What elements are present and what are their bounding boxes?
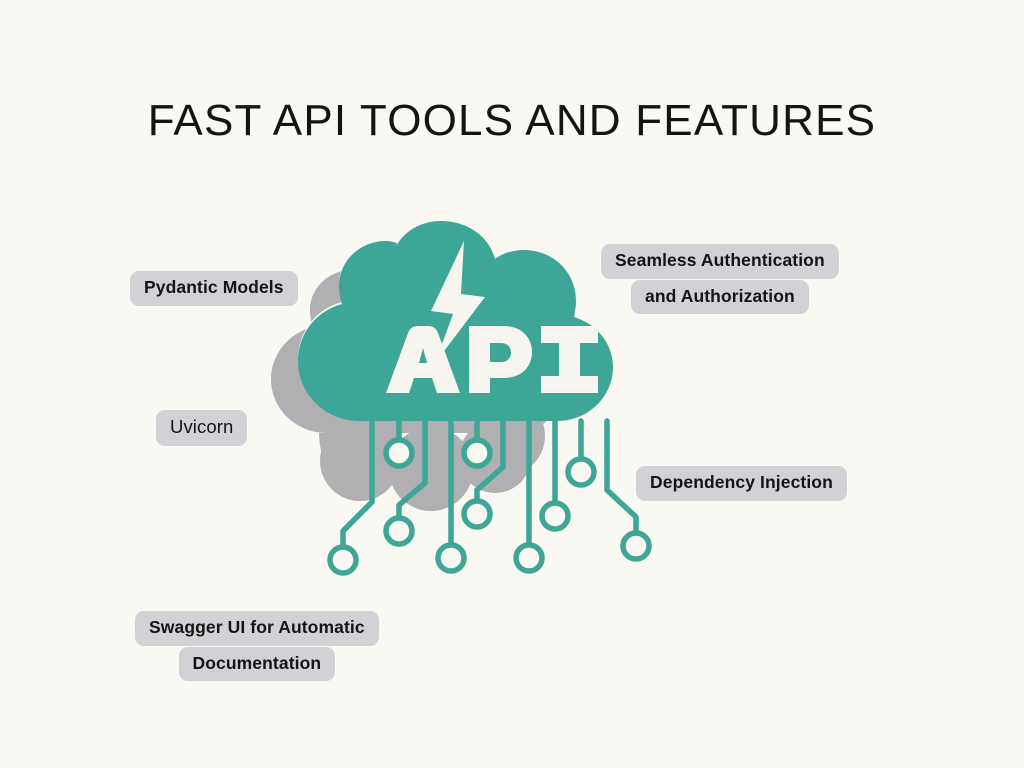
label-uvicorn[interactable]: Uvicorn [156,410,247,446]
infographic-canvas: FAST API TOOLS AND FEATURES [0,0,1024,768]
label-swagger-ui[interactable]: Swagger UI for Automatic Documentation [135,611,379,681]
label-line: Uvicorn [156,410,247,446]
label-seamless-authentication[interactable]: Seamless Authentication and Authorizatio… [601,244,839,314]
label-line: Swagger UI for Automatic [135,611,379,646]
label-dependency-injection[interactable]: Dependency Injection [636,466,847,501]
page-title: FAST API TOOLS AND FEATURES [0,96,1024,146]
label-line: Documentation [179,647,336,682]
label-line: Dependency Injection [636,466,847,501]
label-pydantic-models[interactable]: Pydantic Models [130,271,298,306]
label-line: Pydantic Models [130,271,298,306]
label-line: and Authorization [631,280,809,315]
label-line: Seamless Authentication [601,244,839,279]
